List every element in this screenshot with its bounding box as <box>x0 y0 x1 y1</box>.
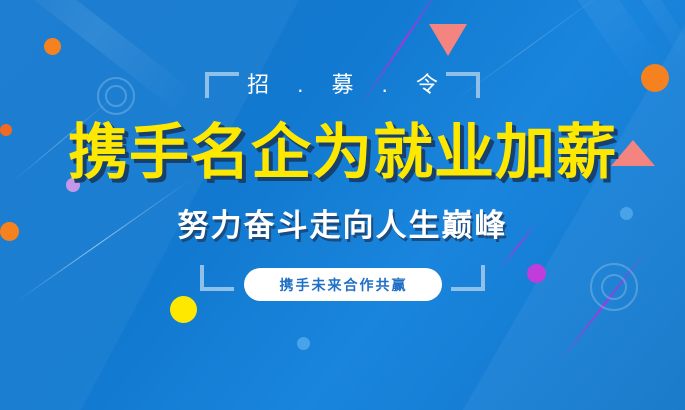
bracket-bottom-left <box>200 265 234 291</box>
dot-yellow-bottom-left <box>170 296 197 323</box>
page-title: 携手名企为就业加薪 <box>0 118 685 188</box>
subtitle: 努力奋斗走向人生巅峰 <box>0 204 685 248</box>
bracket-bottom-right <box>451 265 485 291</box>
cta-button[interactable]: 携手未来合作共赢 <box>244 268 442 301</box>
eyebrow-text: 招 . 募 . 令 <box>0 70 685 100</box>
dot-lightblue-bottom <box>297 337 310 350</box>
recruitment-banner: 招 . 募 . 令 携手名企为就业加薪 努力奋斗走向人生巅峰 携手未来合作共赢 <box>0 0 685 410</box>
dot-magenta-right <box>527 264 546 283</box>
dot-orange-top-left <box>44 38 61 55</box>
ring-bottom-right <box>590 263 638 311</box>
triangle-pink-top <box>429 24 467 56</box>
